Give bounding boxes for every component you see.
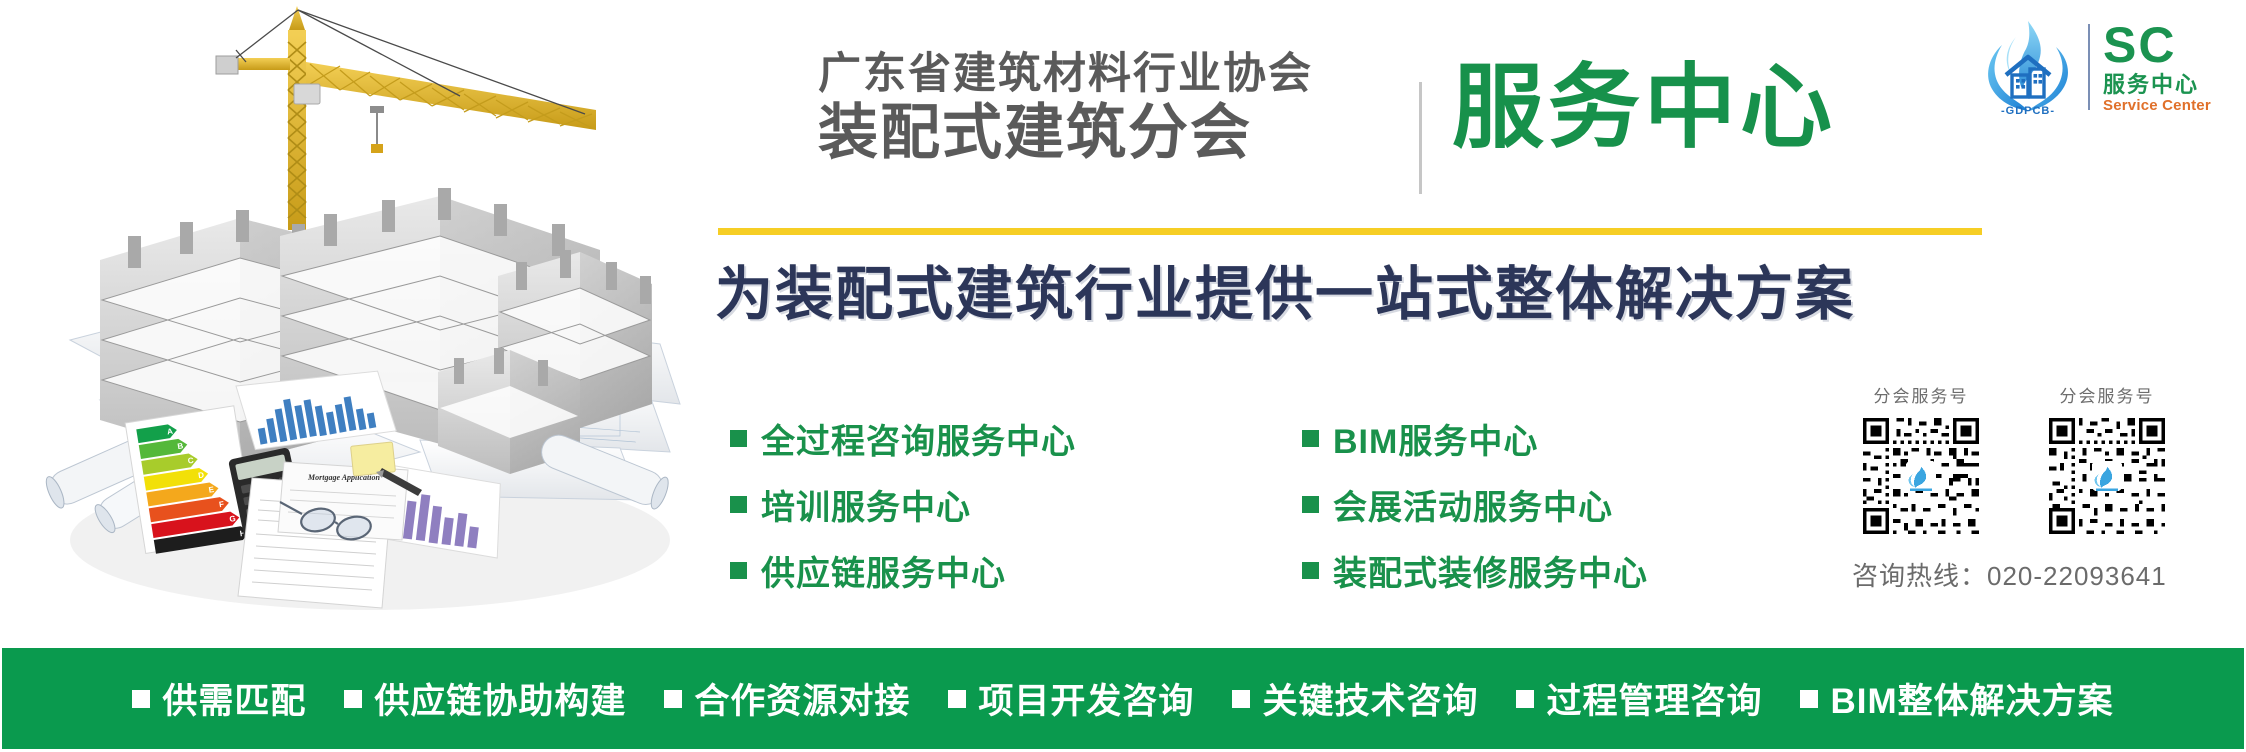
footer-item-label: 合作资源对接 [694, 673, 910, 724]
square-bullet-icon [730, 496, 747, 513]
service-item-label: BIM服务中心 [1333, 414, 1538, 463]
square-bullet-icon [1302, 430, 1319, 447]
square-bullet-icon [664, 690, 682, 708]
sc-letters: SC [2103, 21, 2240, 69]
qr-code-icon[interactable] [2045, 414, 2169, 538]
service-item[interactable]: BIM服务中心 [1302, 405, 1648, 471]
footer-item-label: 过程管理咨询 [1546, 673, 1762, 724]
gold-divider-rule [718, 228, 1982, 235]
construction-building-render-image: AB CD EF GH [40, 0, 700, 650]
footer-item[interactable]: 项目开发咨询 [948, 673, 1194, 724]
square-bullet-icon [730, 562, 747, 579]
qr-cell: 分会服务号 [2028, 382, 2186, 538]
service-center-heading: 服务中心 [1452, 58, 1836, 158]
svg-text:-GDPCB-: -GDPCB- [2001, 105, 2055, 117]
square-bullet-icon [1302, 496, 1319, 513]
service-item-label: 会展活动服务中心 [1333, 480, 1613, 529]
square-bullet-icon [1232, 690, 1250, 708]
service-item[interactable]: 全过程咨询服务中心 [730, 405, 1076, 471]
square-bullet-icon [344, 690, 362, 708]
square-bullet-icon [948, 690, 966, 708]
sc-english-label: Service Center [2103, 97, 2240, 114]
qr-contact-block: 分会服务号 [1842, 382, 2242, 593]
service-item[interactable]: 会展活动服务中心 [1302, 471, 1648, 537]
service-item-label: 培训服务中心 [761, 480, 971, 529]
brand-logo-lockup: -GDPCB- SC 服务中心 Service Center [1972, 14, 2240, 120]
square-bullet-icon [132, 690, 150, 708]
tagline: 为装配式建筑行业提供一站式整体解决方案 [715, 258, 1855, 332]
footer-item[interactable]: 过程管理咨询 [1516, 673, 1762, 724]
gdpcb-house-flame-logo-icon: -GDPCB- [1972, 15, 2084, 119]
association-name-line1: 广东省建筑材料行业协会 [818, 48, 1418, 100]
square-bullet-icon [1302, 562, 1319, 579]
service-item[interactable]: 培训服务中心 [730, 471, 1076, 537]
vertical-divider-icon [1419, 82, 1422, 194]
qr-cell: 分会服务号 [1842, 382, 2000, 538]
footer-item[interactable]: 关键技术咨询 [1232, 673, 1478, 724]
sc-chinese-label: 服务中心 [2103, 72, 2240, 97]
footer-item[interactable]: BIM整体解决方案 [1800, 673, 2113, 724]
square-bullet-icon [1516, 690, 1534, 708]
association-branch-name: 装配式建筑分会 [818, 100, 1418, 166]
footer-item-label: BIM整体解决方案 [1830, 673, 2113, 724]
service-item-label: 全过程咨询服务中心 [761, 414, 1076, 463]
hotline-text: 咨询热线：020-22093641 [1852, 556, 2242, 593]
square-bullet-icon [1800, 690, 1818, 708]
footer-item[interactable]: 供应链协助构建 [344, 673, 626, 724]
service-center-banner: AB CD EF GH [0, 0, 2246, 752]
footer-services-bar: 供需匹配 供应链协助构建 合作资源对接 项目开发咨询 关键技术咨询 过程管理咨询… [2, 648, 2244, 749]
footer-item-label: 供需匹配 [162, 673, 306, 724]
service-list-left: 全过程咨询服务中心 培训服务中心 供应链服务中心 [730, 405, 1076, 603]
footer-item-label: 供应链协助构建 [374, 673, 626, 724]
service-item[interactable]: 供应链服务中心 [730, 537, 1076, 603]
qr-code-icon[interactable] [1859, 414, 1983, 538]
service-item-label: 供应链服务中心 [761, 546, 1006, 595]
footer-item[interactable]: 供需匹配 [132, 673, 306, 724]
logo-divider-icon [2088, 24, 2090, 110]
sticky-note [351, 442, 396, 476]
service-item[interactable]: 装配式装修服务中心 [1302, 537, 1648, 603]
footer-item-label: 关键技术咨询 [1262, 673, 1478, 724]
qr-label: 分会服务号 [2028, 382, 2186, 407]
service-item-label: 装配式装修服务中心 [1333, 546, 1648, 595]
sc-wordmark: SC 服务中心 Service Center [2103, 21, 2240, 114]
footer-item-label: 项目开发咨询 [978, 673, 1194, 724]
footer-item[interactable]: 合作资源对接 [664, 673, 910, 724]
qr-label: 分会服务号 [1842, 382, 2000, 407]
page-title: 广东省建筑材料行业协会 装配式建筑分会 [818, 48, 1418, 166]
service-list-right: BIM服务中心 会展活动服务中心 装配式装修服务中心 [1302, 405, 1648, 603]
square-bullet-icon [730, 430, 747, 447]
